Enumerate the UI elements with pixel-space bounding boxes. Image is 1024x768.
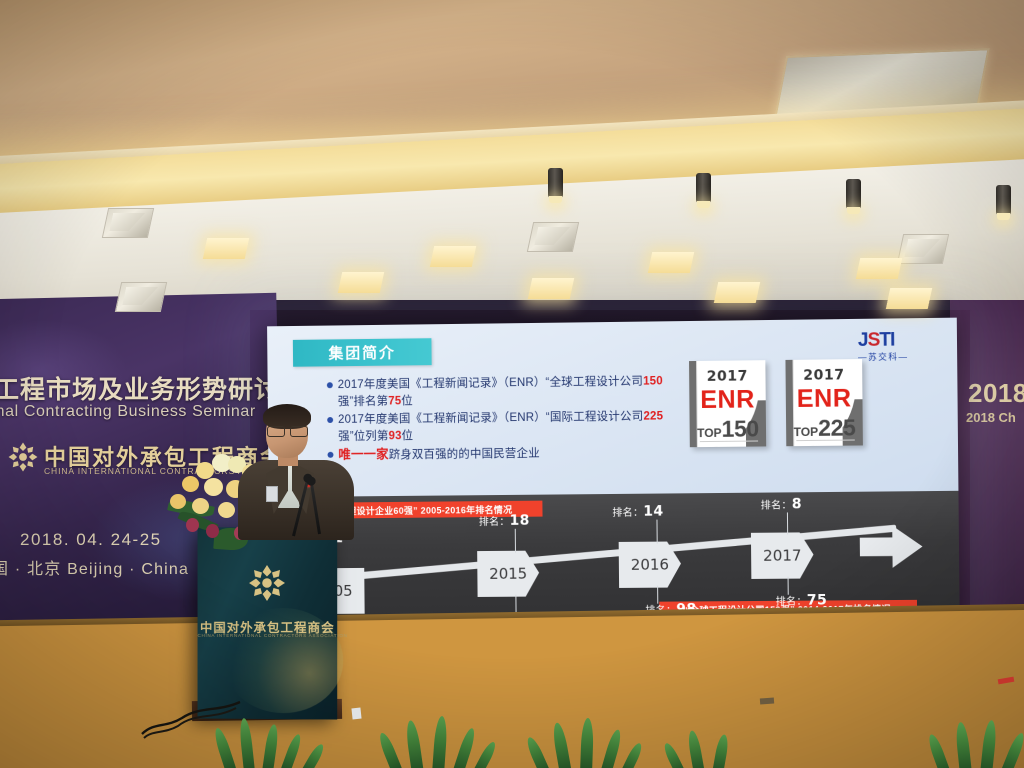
timeline-rank-above-2017: 排名：8 bbox=[761, 496, 802, 512]
recessed-ceiling-light bbox=[528, 278, 574, 299]
plant-frond bbox=[955, 722, 972, 768]
conference-photo-scene: 工程市场及业务形势研讨会 ional Contracting Business … bbox=[0, 0, 1024, 768]
enr-badge-number: 225 bbox=[818, 414, 855, 441]
timeline-stem bbox=[787, 512, 788, 534]
flower-bloom bbox=[204, 478, 223, 496]
slide-bullet-list: 2017年度美国《工程新闻记录》（ENR）“全球工程设计公司150强”排名第75… bbox=[327, 373, 686, 466]
plant-frond bbox=[926, 733, 951, 768]
slide-section-header: 集团简介 bbox=[293, 338, 432, 367]
recessed-ceiling-light bbox=[430, 246, 476, 267]
flower-bloom bbox=[206, 524, 219, 538]
jsti-logo-wordmark: JSTI bbox=[858, 330, 939, 350]
foreground-plants bbox=[0, 700, 1024, 768]
backdrop-right-subtitle: 2018 Ch bbox=[966, 410, 1016, 425]
backdrop-right-year: 2018 bbox=[968, 378, 1024, 409]
podium-cica-logo-icon bbox=[247, 563, 287, 603]
backdrop-title-cn: 工程市场及业务形势研讨会 bbox=[0, 370, 274, 406]
track-spotlight-icon bbox=[846, 179, 861, 209]
projection-screen: 集团简介 2017年度美国《工程新闻记录》（ENR）“全球工程设计公司150强”… bbox=[267, 318, 960, 627]
slide-bullet-item: 2017年度美国《工程新闻记录》（ENR）“国际工程设计公司225强”位列第93… bbox=[327, 408, 686, 446]
plant-frond bbox=[712, 734, 730, 768]
backdrop-place: 国 · 北京 Beijing · China bbox=[0, 555, 189, 579]
podium-organization-en: CHINA INTERNATIONAL CONTRACTORS ASSOCIAT… bbox=[198, 633, 338, 638]
timeline-stem bbox=[656, 520, 657, 544]
plant-frond bbox=[473, 740, 499, 768]
enr-badge-rank-line: TOP150 bbox=[690, 415, 767, 443]
plant-frond bbox=[980, 720, 998, 768]
hvac-vent-icon bbox=[897, 234, 949, 264]
enr-badge-word: ENR bbox=[689, 385, 766, 415]
jsti-logo-subtitle: —苏交科— bbox=[858, 350, 939, 363]
slide-bullet-text-2: 2017年度美国《工程新闻记录》（ENR）“国际工程设计公司225强”位列第93… bbox=[338, 408, 686, 446]
timeline-rank-above-2016: 排名：14 bbox=[612, 504, 663, 520]
plant-frond bbox=[212, 727, 237, 768]
enr-badge-225: 2017 ENR TOP225 bbox=[785, 359, 862, 446]
plant-frond bbox=[580, 718, 594, 768]
timeline-axis-line bbox=[338, 525, 896, 581]
flower-bloom bbox=[196, 462, 214, 479]
jsti-logo: JSTI —苏交科— bbox=[858, 330, 939, 363]
speaker-glasses-icon bbox=[267, 426, 308, 435]
slide-upper-section: 集团简介 2017年度美国《工程新闻记录》（ENR）“全球工程设计公司150强”… bbox=[267, 318, 958, 498]
plant-frond bbox=[686, 730, 704, 768]
hvac-vent-icon bbox=[115, 282, 167, 312]
plant-frond bbox=[280, 733, 303, 768]
plant-frond bbox=[600, 728, 623, 768]
plant-frond bbox=[621, 741, 645, 768]
plant-frond bbox=[405, 720, 424, 768]
recessed-ceiling-light bbox=[856, 258, 902, 279]
enr-badge-year: 2017 bbox=[786, 367, 863, 384]
plant-frond bbox=[377, 731, 403, 768]
timeline-rank-above-2015: 排名：18 bbox=[479, 513, 530, 529]
backdrop-title-en: ional Contracting Business Seminar bbox=[0, 403, 272, 421]
flower-bloom bbox=[186, 518, 199, 532]
flower-bloom bbox=[192, 498, 209, 514]
hvac-vent-icon bbox=[102, 208, 154, 238]
plant-frond bbox=[238, 718, 255, 768]
recessed-ceiling-light bbox=[648, 252, 694, 273]
recessed-ceiling-light bbox=[886, 288, 932, 309]
conference-backdrop-right bbox=[950, 300, 1024, 630]
flower-bloom bbox=[170, 494, 186, 509]
plant-frond bbox=[662, 741, 686, 768]
recessed-ceiling-light bbox=[338, 272, 384, 293]
plant-frond bbox=[262, 724, 280, 768]
slide-bullet-text-3: 唯一一家跻身双百强的的中国民营企业 bbox=[338, 443, 686, 464]
track-spotlight-icon bbox=[996, 185, 1011, 215]
slide-bullet-item: 2017年度美国《工程新闻记录》（ENR）“全球工程设计公司150强”排名第75… bbox=[327, 373, 686, 411]
enr-badge-150: 2017 ENR TOP150 bbox=[689, 360, 766, 447]
enr-badge-number: 150 bbox=[721, 415, 758, 441]
plant-frond bbox=[452, 727, 477, 768]
recessed-ceiling-light bbox=[714, 282, 760, 303]
plant-frond bbox=[1000, 731, 1024, 768]
slide-bullet-item: 唯一一家跻身双百强的的中国民营企业 bbox=[327, 443, 686, 465]
timeline-stem bbox=[515, 529, 516, 553]
slide-bullet-text-1: 2017年度美国《工程新闻记录》（ENR）“全球工程设计公司150强”排名第75… bbox=[338, 373, 686, 411]
plant-frond bbox=[524, 735, 550, 768]
plant-frond bbox=[551, 722, 572, 768]
plant-frond bbox=[301, 742, 327, 768]
cica-logo-icon bbox=[6, 440, 40, 474]
plant-frond bbox=[432, 716, 448, 768]
enr-badge-rank-line: TOP225 bbox=[786, 414, 863, 442]
speaker-name-badge bbox=[266, 486, 278, 502]
enr-badge-top-label: TOP bbox=[793, 425, 818, 439]
backdrop-date: 2018. 04. 24-25 bbox=[20, 530, 162, 550]
track-spotlight-icon bbox=[548, 168, 563, 198]
track-spotlight-icon bbox=[696, 173, 711, 203]
flower-bloom bbox=[218, 502, 235, 518]
enr-badge-year: 2017 bbox=[689, 368, 765, 385]
flower-bloom bbox=[182, 476, 199, 492]
bullet-dot-icon bbox=[327, 382, 333, 388]
enr-badge-word: ENR bbox=[786, 384, 863, 414]
recessed-ceiling-light bbox=[203, 238, 249, 259]
hvac-vent-icon bbox=[527, 222, 579, 252]
enr-badge-top-label: TOP bbox=[697, 426, 722, 440]
